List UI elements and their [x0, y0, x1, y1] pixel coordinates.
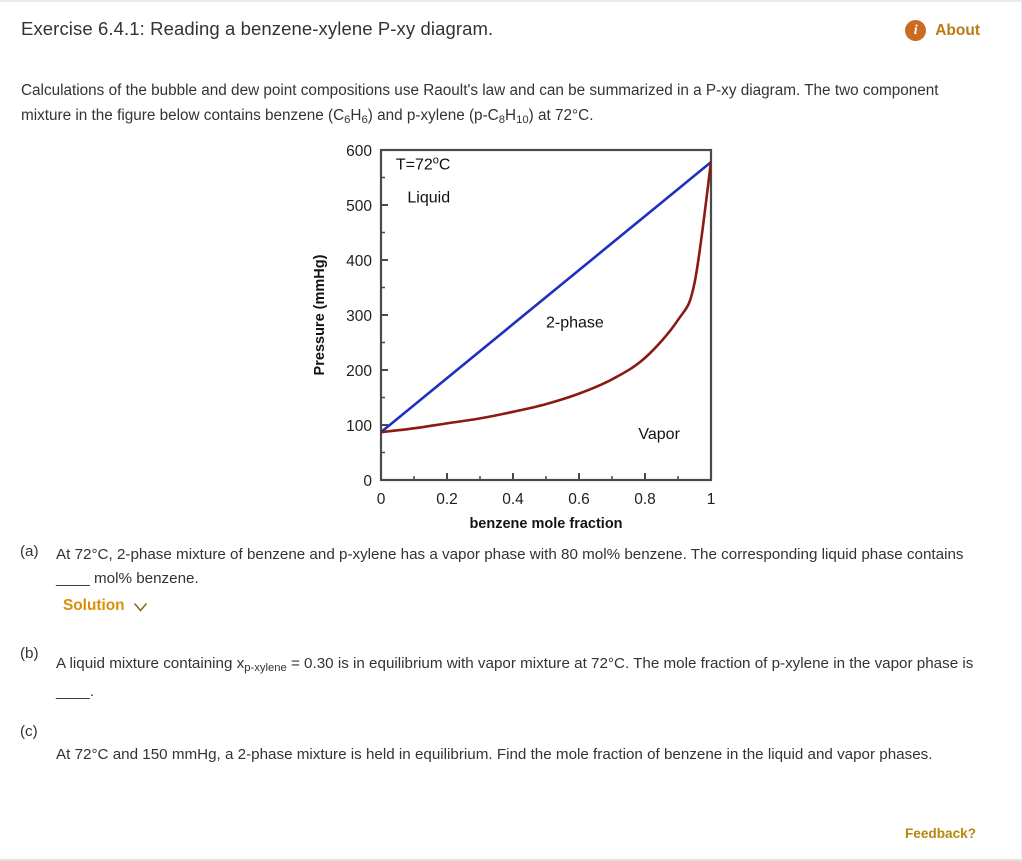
part-a-label: (a)	[20, 543, 39, 560]
region-label-liquid: Liquid	[407, 189, 450, 206]
x-tick-label: 0	[377, 491, 386, 508]
about-button[interactable]: About	[905, 20, 980, 41]
feedback-link[interactable]: Feedback?	[905, 826, 976, 841]
part-a-text-pre: At 72°C, 2-phase mixture of benzene and …	[56, 546, 963, 563]
part-b-text-mid: = 0.30 is in equilibrium with vapor mixt…	[287, 655, 974, 672]
part-b-text: A liquid mixture containing xp-xylene = …	[56, 652, 996, 704]
part-a-blank: ____	[56, 570, 90, 587]
solution-label: Solution	[63, 597, 125, 615]
pxy-diagram: 010020030040050060000.20.40.60.81benzene…	[300, 137, 720, 537]
part-c-text: At 72°C and 150 mmHg, a 2-phase mixture …	[56, 743, 1016, 767]
y-tick-label: 200	[346, 363, 372, 380]
x-tick-label: 0.4	[502, 491, 524, 508]
page-title: Exercise 6.4.1: Reading a benzene-xylene…	[21, 18, 493, 40]
y-axis-label: Pressure (mmHg)	[312, 254, 328, 375]
part-b-label: (b)	[20, 645, 39, 662]
intro-line-2-end: ) at 72°C.	[529, 107, 594, 124]
intro-line-2-mid-3: H	[505, 107, 516, 124]
page-header: Exercise 6.4.1: Reading a benzene-xylene…	[0, 18, 1022, 58]
y-tick-label: 100	[346, 418, 372, 435]
chevron-down-icon	[134, 600, 147, 614]
y-tick-label: 400	[346, 253, 372, 270]
part-a-text-post: mol% benzene.	[90, 570, 199, 587]
x-axis-label: benzene mole fraction	[469, 516, 622, 532]
intro-line-2-mid-1: H	[350, 107, 361, 124]
part-c-label: (c)	[20, 723, 38, 740]
intro-line-1: Calculations of the bubble and dew point…	[21, 82, 859, 99]
y-tick-label: 500	[346, 198, 372, 215]
x-tick-label: 0.6	[568, 491, 590, 508]
info-circle-icon	[905, 20, 926, 41]
y-tick-label: 600	[346, 143, 372, 160]
x-tick-label: 0.2	[436, 491, 458, 508]
solution-toggle-a[interactable]: Solution	[63, 597, 147, 615]
part-b-text-pre: A liquid mixture containing x	[56, 655, 244, 672]
part-b-blank: ____	[56, 683, 90, 700]
x-tick-label: 0.8	[634, 491, 656, 508]
x-tick-label: 1	[707, 491, 716, 508]
part-b-text-post: .	[90, 683, 94, 700]
pxy-diagram-svg: 010020030040050060000.20.40.60.81benzene…	[300, 137, 720, 537]
y-tick-label: 300	[346, 308, 372, 325]
intro-paragraph: Calculations of the bubble and dew point…	[21, 78, 946, 133]
temperature-annotation: T=72oC	[396, 154, 451, 173]
xylene-sub-2: 10	[516, 114, 529, 126]
intro-line-2-mid-2: ) and p-xylene (p-C	[368, 107, 499, 124]
y-tick-label: 0	[363, 473, 372, 490]
part-b-subscript: p-xylene	[244, 662, 286, 674]
about-label: About	[935, 22, 980, 40]
region-label-vapor: Vapor	[638, 426, 680, 443]
region-label-2-phase: 2-phase	[546, 315, 604, 332]
part-a-text: At 72°C, 2-phase mixture of benzene and …	[56, 543, 971, 591]
exercise-page: Exercise 6.4.1: Reading a benzene-xylene…	[0, 0, 1022, 861]
chevron-down-glyph	[134, 603, 147, 612]
